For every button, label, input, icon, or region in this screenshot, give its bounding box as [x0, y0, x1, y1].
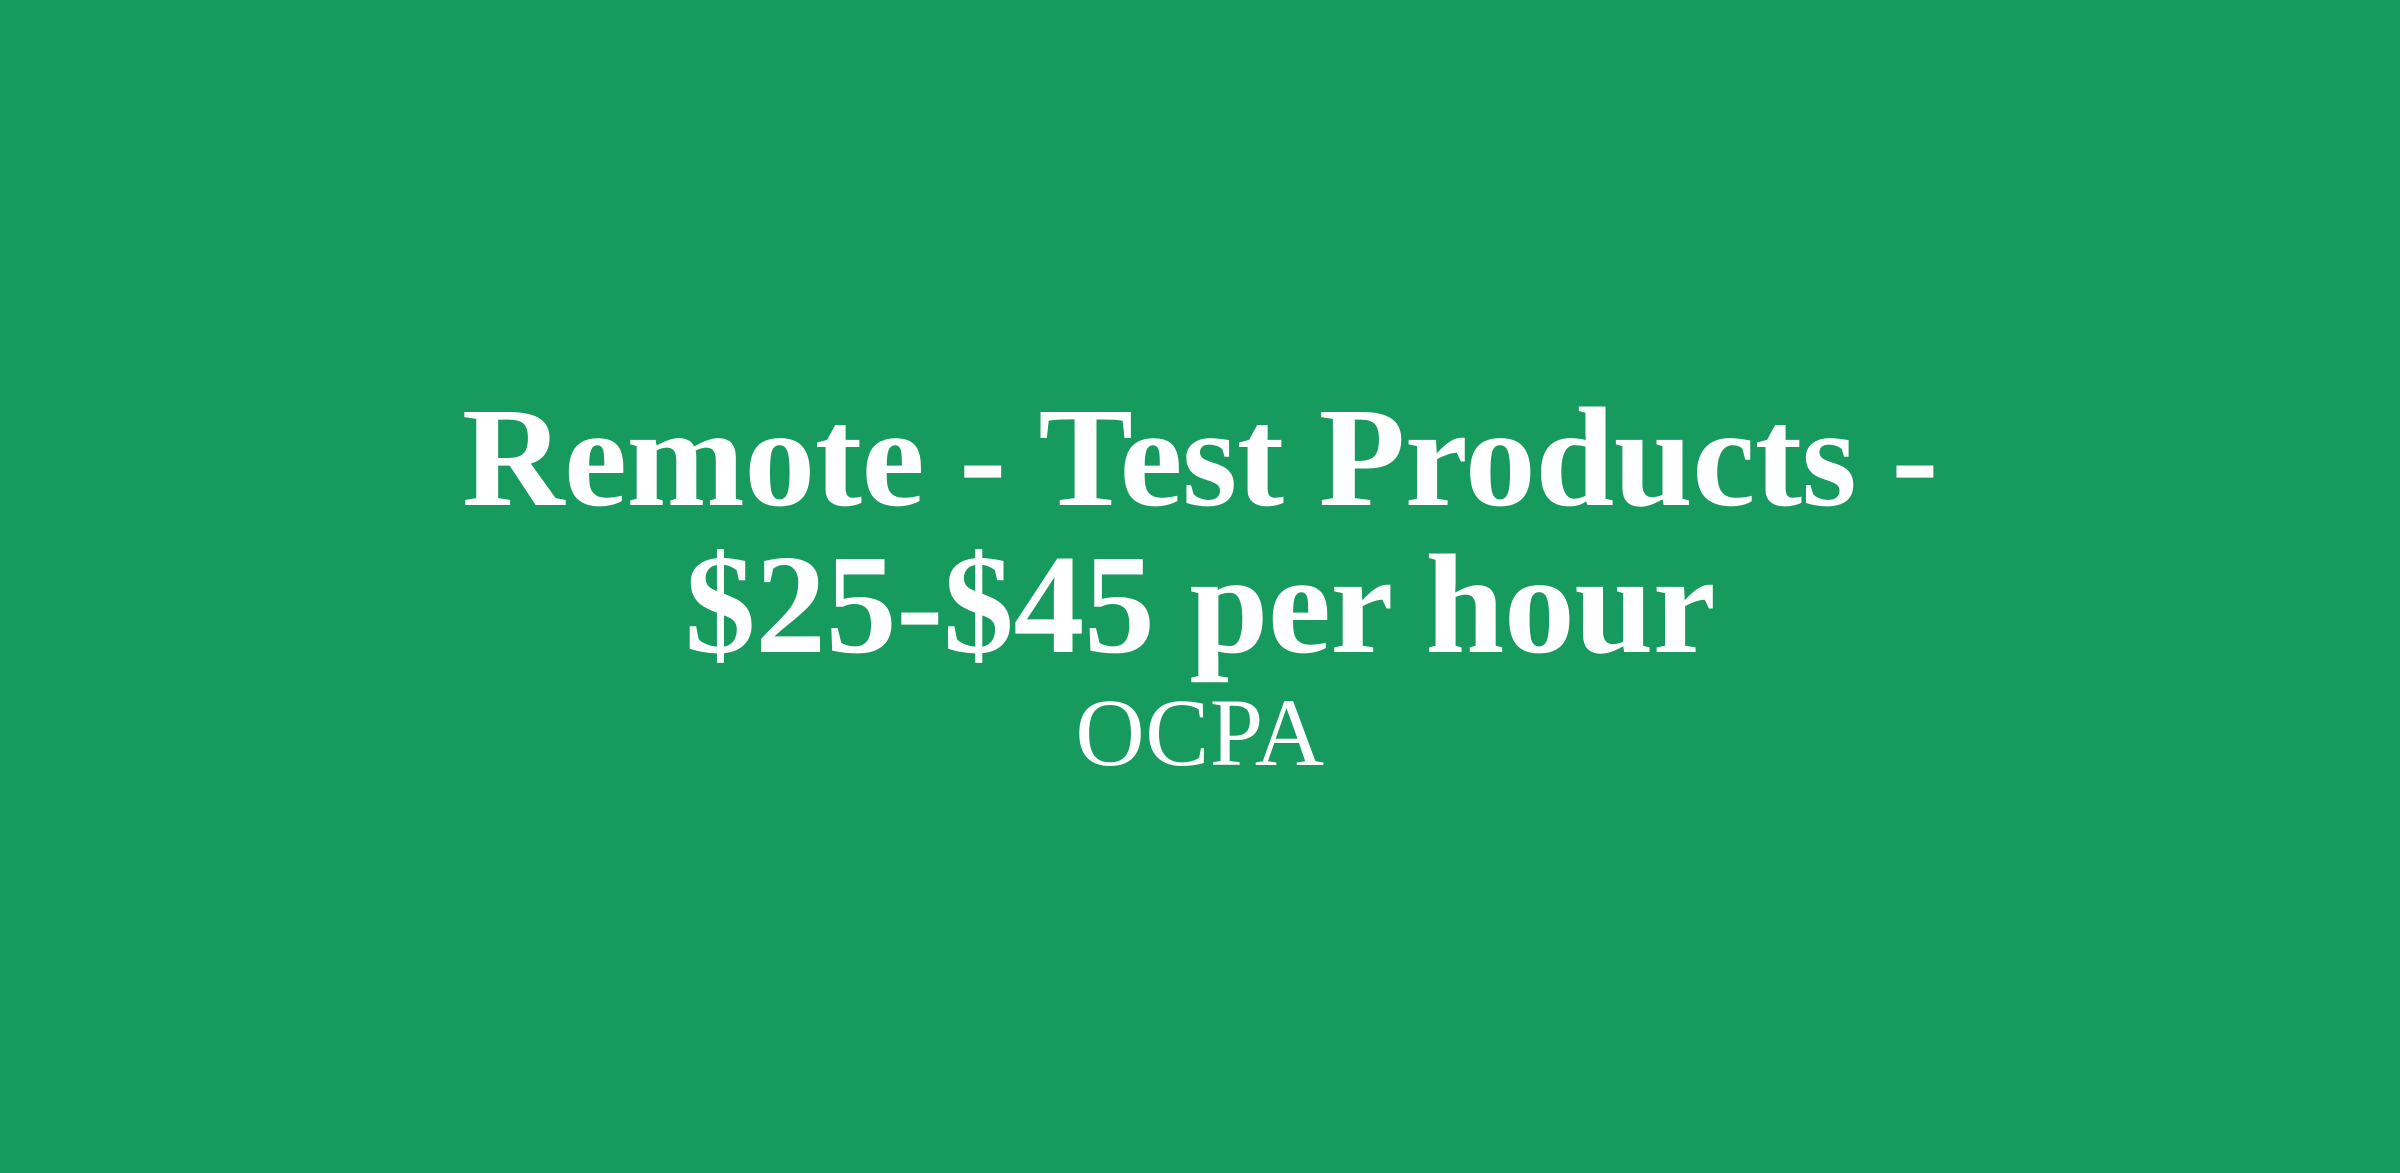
banner-text-block: Remote - Test Products - $25-$45 per hou… — [350, 384, 2050, 781]
job-listing-banner: Remote - Test Products - $25-$45 per hou… — [0, 0, 2400, 1173]
banner-headline: Remote - Test Products - $25-$45 per hou… — [350, 384, 2050, 677]
banner-subtitle-organization: OCPA — [350, 685, 2050, 781]
